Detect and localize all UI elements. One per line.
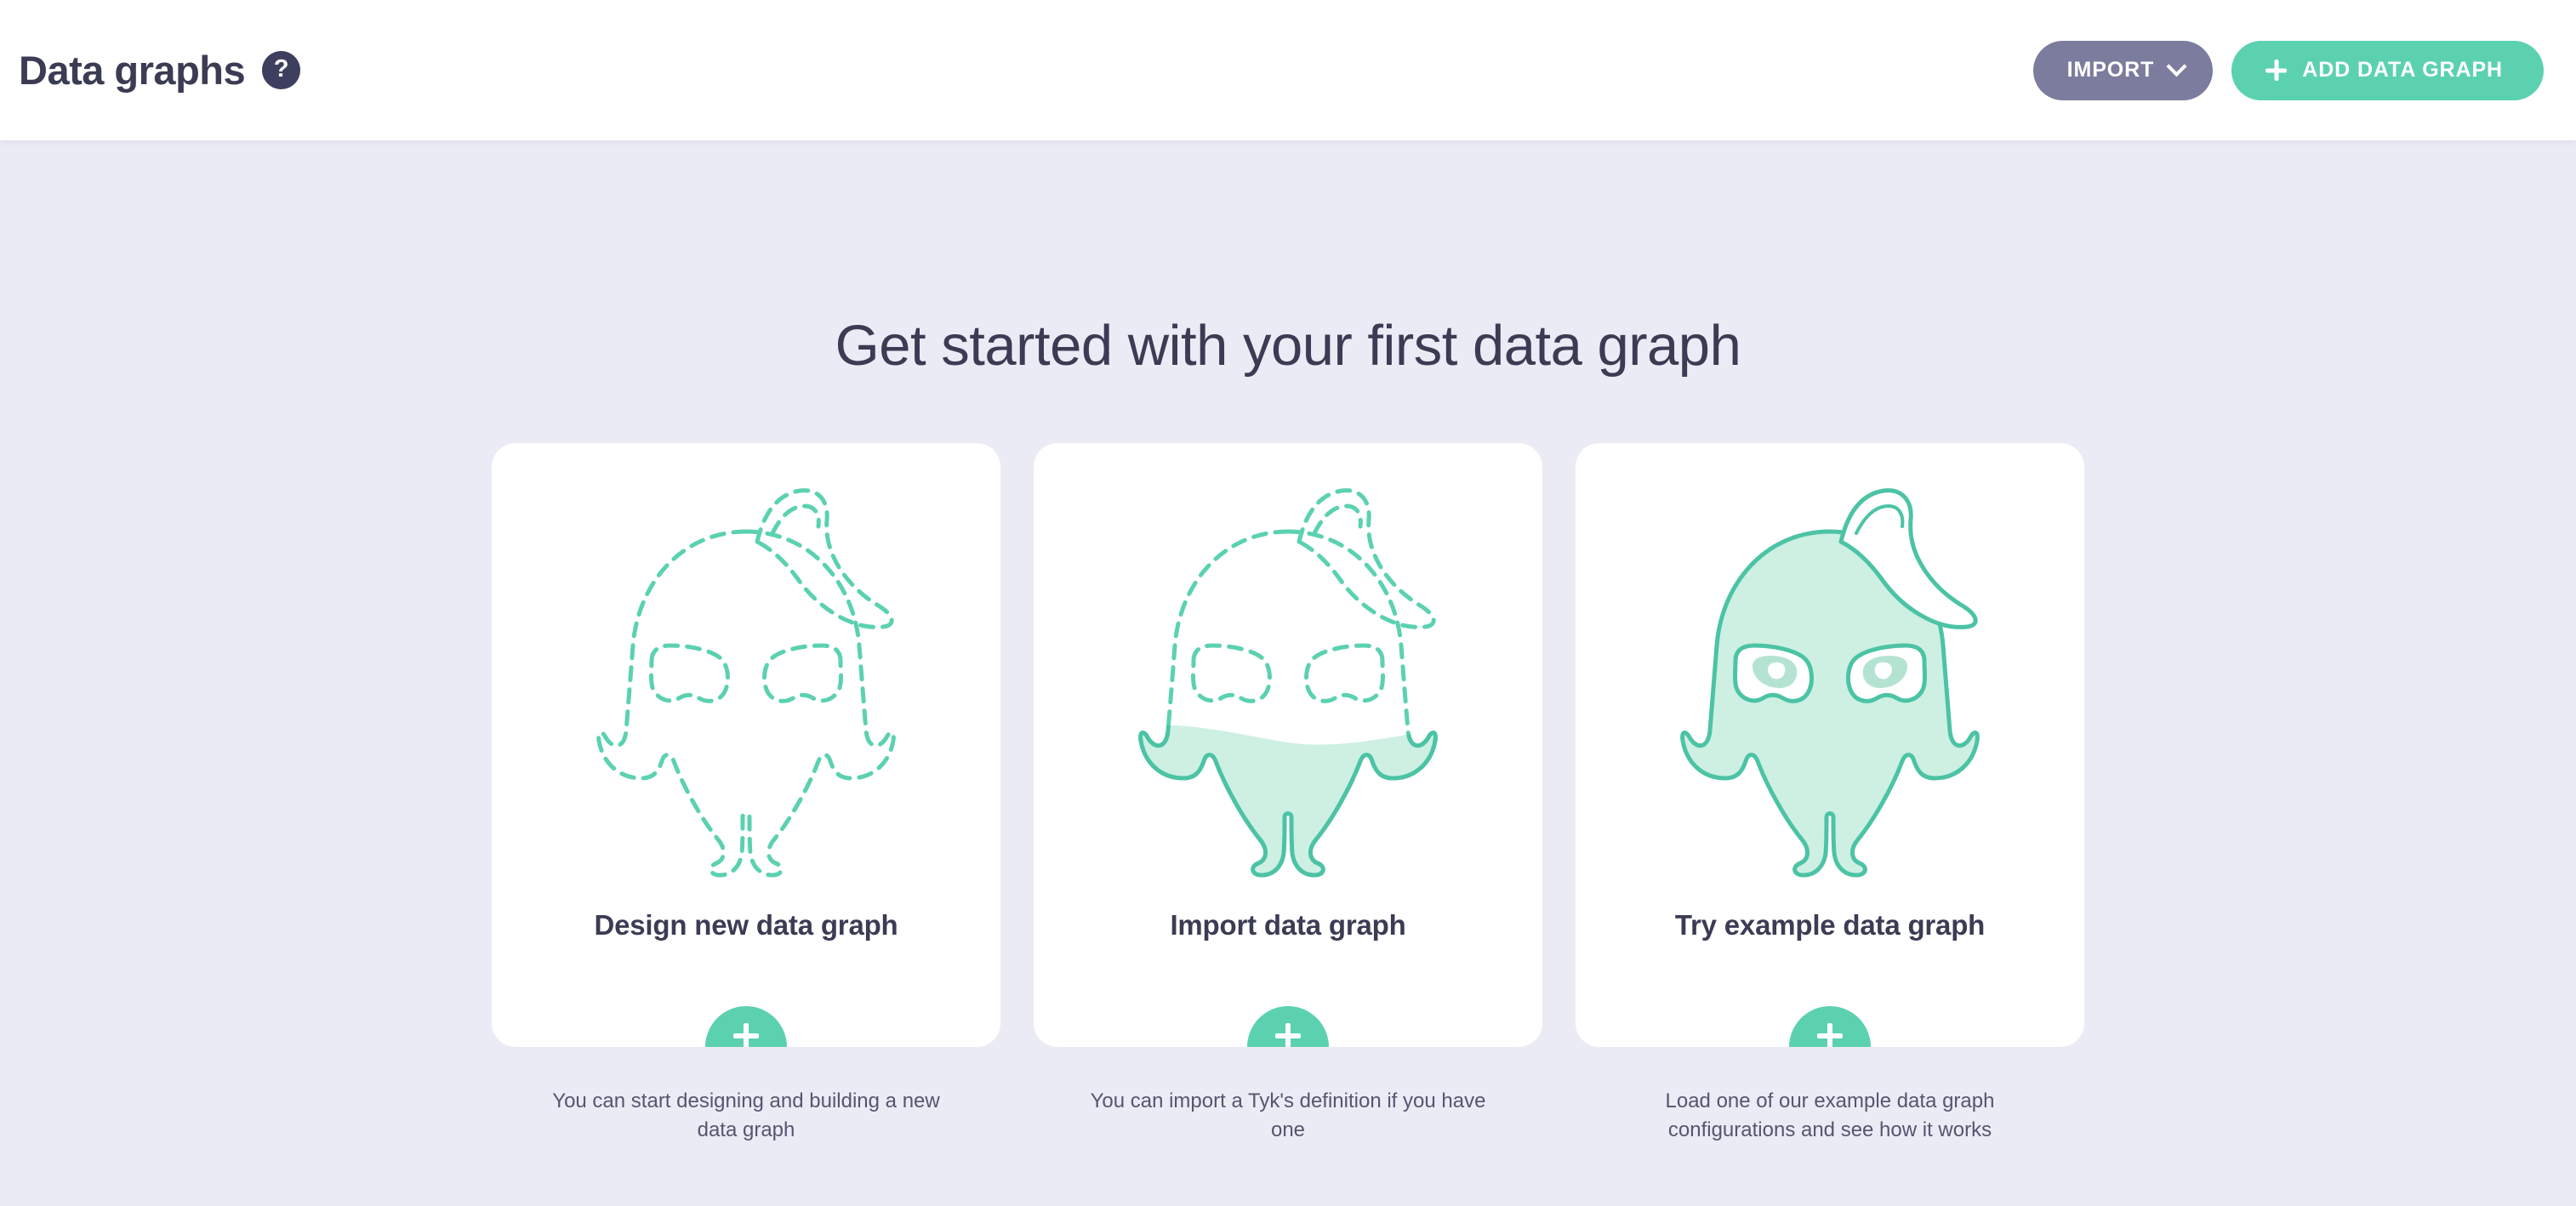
help-icon[interactable]: ? [262, 51, 300, 89]
add-data-graph-button-label: ADD DATA GRAPH [2302, 58, 2503, 82]
header-actions: IMPORT ADD DATA GRAPH [2033, 41, 2544, 100]
card-caption-example: Load one of our example data graph confi… [1630, 1087, 2030, 1145]
card-title-import: Import data graph [1170, 909, 1405, 941]
card-plus-button-import[interactable] [1247, 1006, 1329, 1047]
app-header: Data graphs ? IMPORT ADD DATA GRAPH [0, 0, 2576, 140]
card-wrapper-example: Try example data graph Load one of our e… [1576, 443, 2084, 1145]
import-button-label: IMPORT [2067, 58, 2155, 82]
main-content: Get started with your first data graph [0, 140, 2576, 1206]
tyk-mascot-half-filled-icon [1105, 479, 1471, 904]
card-title-design: Design new data graph [594, 909, 898, 941]
import-button[interactable]: IMPORT [2033, 41, 2214, 100]
card-title-example: Try example data graph [1675, 909, 1985, 941]
card-try-example-data-graph[interactable]: Try example data graph [1576, 443, 2084, 1047]
header-left-group: Data graphs ? [19, 50, 300, 90]
card-plus-button-example[interactable] [1789, 1006, 1871, 1047]
page-title: Data graphs [19, 50, 245, 90]
card-caption-import: You can import a Tyk's definition if you… [1088, 1087, 1488, 1145]
tyk-mascot-outline-dashed-icon [563, 479, 929, 904]
card-caption-design: You can start designing and building a n… [546, 1087, 946, 1145]
card-grid: Design new data graph You can start desi… [0, 443, 2576, 1145]
plus-icon [2265, 60, 2287, 81]
card-design-new-data-graph[interactable]: Design new data graph [492, 443, 1000, 1047]
card-plus-button-design[interactable] [705, 1006, 787, 1047]
tyk-mascot-filled-icon [1647, 479, 2013, 904]
chevron-down-icon [2167, 56, 2187, 77]
plus-icon [1275, 1023, 1301, 1047]
hero-title: Get started with your first data graph [0, 140, 2576, 374]
plus-icon [1817, 1023, 1843, 1047]
plus-icon [733, 1023, 759, 1047]
card-wrapper-import: Import data graph You can import a Tyk's… [1034, 443, 1542, 1145]
card-wrapper-design: Design new data graph You can start desi… [492, 443, 1000, 1145]
add-data-graph-button[interactable]: ADD DATA GRAPH [2231, 41, 2544, 100]
card-import-data-graph[interactable]: Import data graph [1034, 443, 1542, 1047]
